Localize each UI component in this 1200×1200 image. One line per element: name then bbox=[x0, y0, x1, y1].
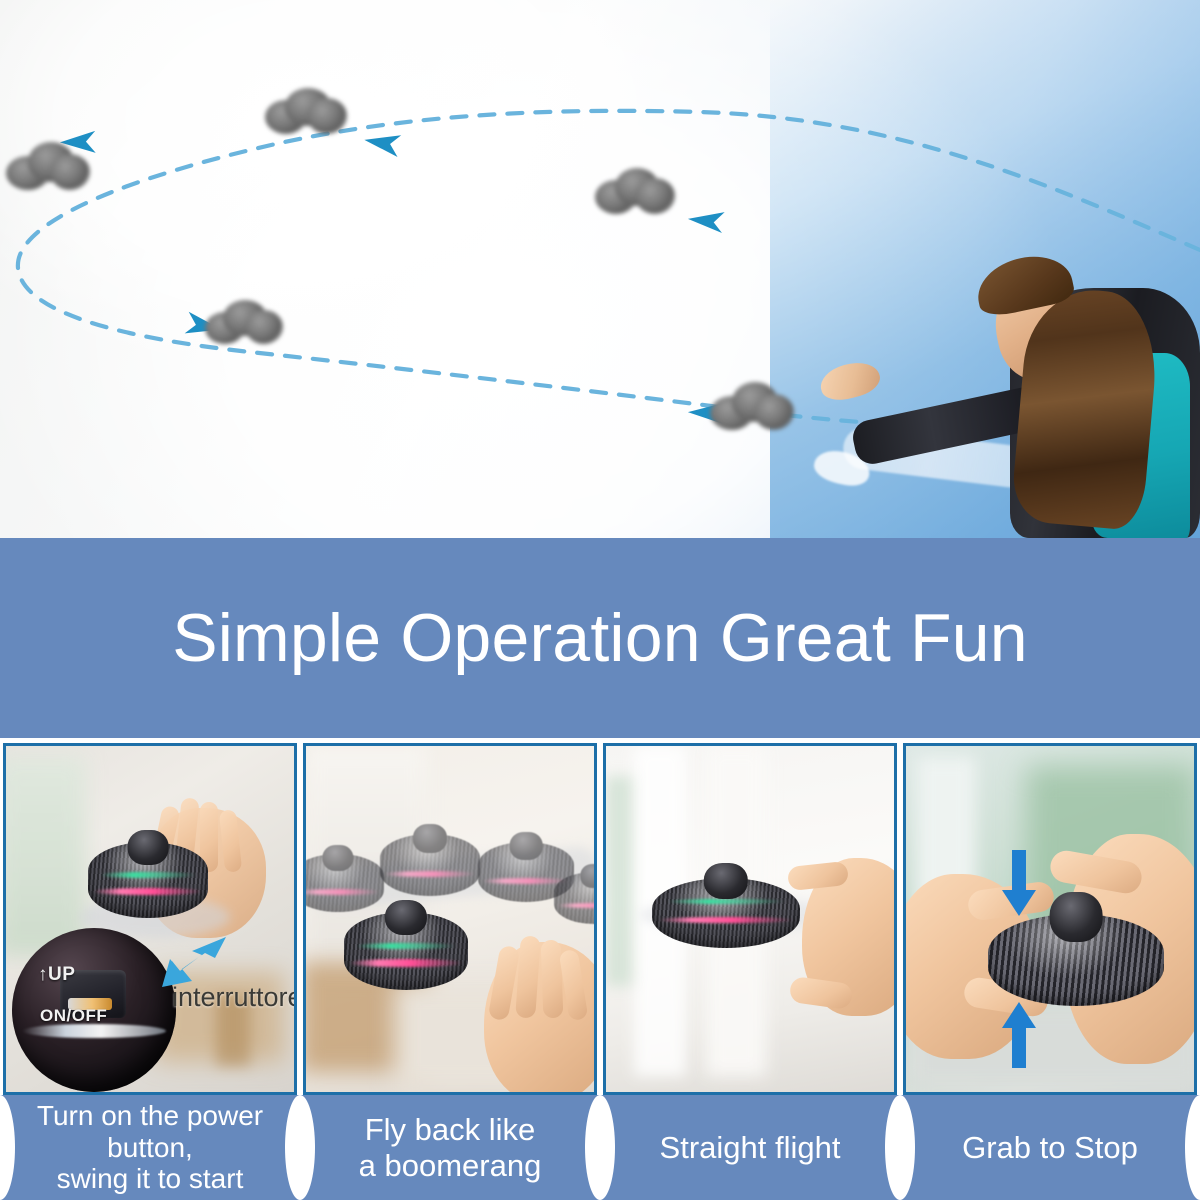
caption-straight-flight: Straight flight bbox=[600, 1095, 900, 1200]
panel-image: ↑UP ON/OFF interruttore bbox=[6, 746, 294, 1092]
caption-line-1: Turn on the power button, bbox=[37, 1100, 263, 1163]
panel-image bbox=[606, 746, 894, 1092]
person-with-outstretched-arms bbox=[870, 238, 1200, 538]
spinner-ghost bbox=[306, 854, 384, 912]
panel-image bbox=[906, 746, 1194, 1092]
spinner-motion-blur bbox=[205, 300, 283, 350]
panel-boomerang[interactable] bbox=[303, 743, 597, 1095]
caption-power-button: Turn on the power button, swing it to st… bbox=[0, 1095, 300, 1200]
feature-panel-row: ↑UP ON/OFF interruttore bbox=[0, 738, 1200, 1095]
headline-banner: Simple Operation Great Fun bbox=[0, 538, 1200, 738]
spinner-device bbox=[344, 912, 468, 990]
panel-grab-to-stop[interactable] bbox=[903, 743, 1197, 1095]
device-label-onoff: ON/OFF bbox=[40, 1006, 107, 1026]
spinner-device bbox=[88, 842, 208, 918]
caption-separator bbox=[585, 1095, 615, 1200]
page-title: Simple Operation Great Fun bbox=[172, 604, 1028, 672]
caption-separator bbox=[885, 1095, 915, 1200]
caption-line-2: a boomerang bbox=[359, 1148, 542, 1183]
caption-bar: Turn on the power button, swing it to st… bbox=[0, 1095, 1200, 1200]
spinner-motion-blur bbox=[710, 382, 794, 436]
spinner-ghost bbox=[380, 834, 480, 896]
caption-line-1: Grab to Stop bbox=[962, 1130, 1138, 1165]
panel-straight-flight[interactable] bbox=[603, 743, 897, 1095]
spinner-motion-blur bbox=[265, 88, 347, 140]
spinner-device bbox=[652, 878, 800, 948]
arrow-up-icon bbox=[1002, 1002, 1036, 1068]
finger bbox=[541, 940, 564, 1019]
caption-line-1: Fly back like bbox=[365, 1112, 536, 1147]
device-label-up: ↑UP bbox=[38, 964, 75, 986]
caption-line-1: Straight flight bbox=[660, 1130, 841, 1165]
panel-power-button[interactable]: ↑UP ON/OFF interruttore bbox=[3, 743, 297, 1095]
device-closeup: ↑UP ON/OFF bbox=[12, 928, 176, 1092]
caption-line-2: swing it to start bbox=[57, 1163, 244, 1194]
hero-scene bbox=[0, 0, 1200, 538]
switch-callout-label: interruttore bbox=[172, 982, 294, 1013]
spinner-ghost bbox=[554, 872, 594, 924]
caption-boomerang: Fly back like a boomerang bbox=[300, 1095, 600, 1200]
caption-separator bbox=[285, 1095, 315, 1200]
product-infographic: Simple Operation Great Fun bbox=[0, 0, 1200, 1200]
caption-grab-to-stop: Grab to Stop bbox=[900, 1095, 1200, 1200]
panel-image bbox=[306, 746, 594, 1092]
spinner-motion-blur bbox=[6, 142, 90, 196]
arrow-down-icon bbox=[1002, 850, 1036, 916]
spinner-motion-blur bbox=[595, 168, 675, 220]
spinner-device bbox=[988, 914, 1164, 1006]
